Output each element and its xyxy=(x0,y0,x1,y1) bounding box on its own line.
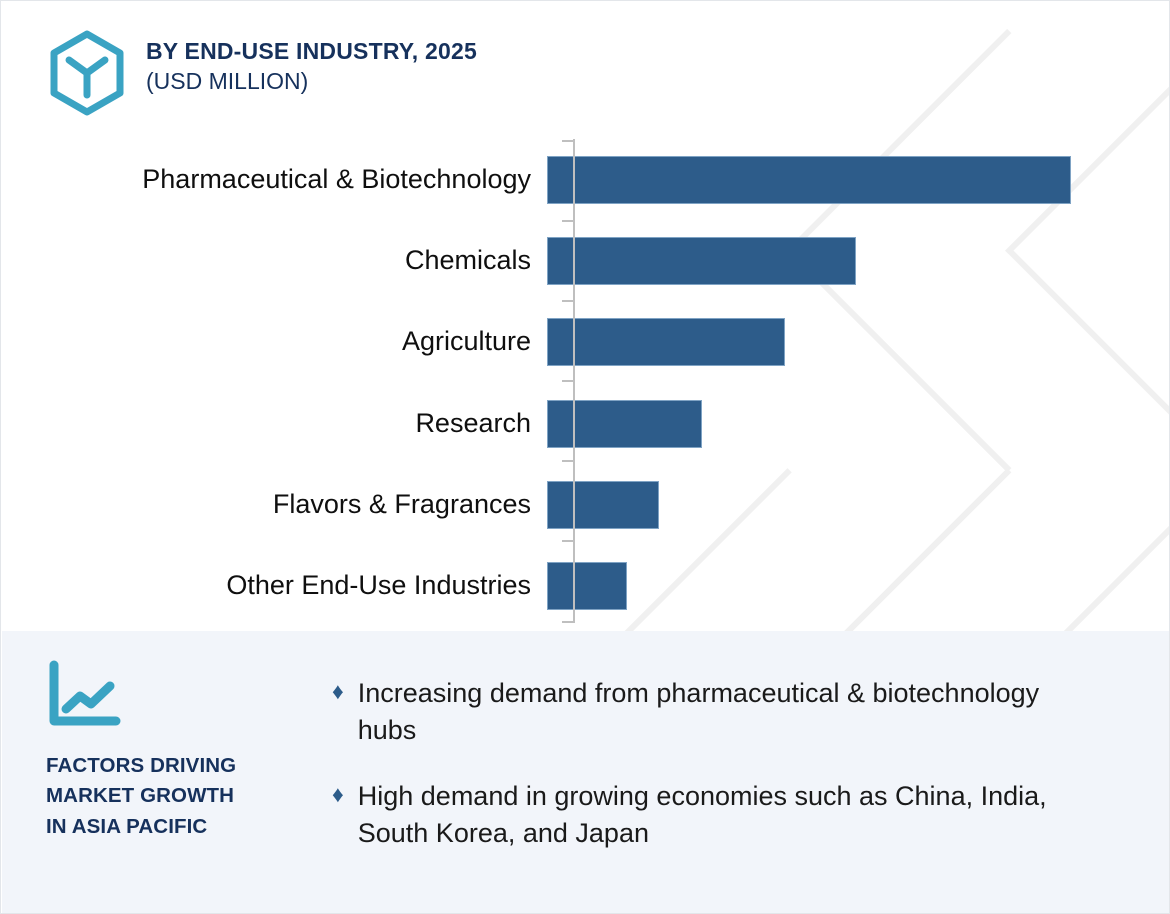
axis-tick xyxy=(562,460,574,462)
axis-tick xyxy=(562,540,574,542)
line-chart-icon xyxy=(46,659,122,731)
chart-row: Research xyxy=(1,383,1170,464)
axis-tick xyxy=(562,140,574,142)
bar-chart: Pharmaceutical & Biotechnology Chemicals… xyxy=(1,139,1170,627)
list-item-text: Increasing demand from pharmaceutical & … xyxy=(358,675,1078,750)
list-item: ♦ Increasing demand from pharmaceutical … xyxy=(332,675,1130,750)
category-label: Flavors & Fragrances xyxy=(1,490,547,520)
diamond-bullet-icon: ♦ xyxy=(332,675,344,707)
chart-row: Pharmaceutical & Biotechnology xyxy=(1,139,1170,220)
bar xyxy=(547,318,785,366)
chart-rows: Pharmaceutical & Biotechnology Chemicals… xyxy=(1,139,1170,627)
chart-row: Other End-Use Industries xyxy=(1,546,1170,627)
list-item: ♦ High demand in growing economies such … xyxy=(332,778,1130,853)
page-subtitle: (USD MILLION) xyxy=(146,67,477,96)
axis-tick xyxy=(562,300,574,302)
factors-panel: FACTORS DRIVING MARKET GROWTH IN ASIA PA… xyxy=(2,631,1170,914)
bar xyxy=(547,481,659,529)
axis-tick xyxy=(562,380,574,382)
page-title: BY END-USE INDUSTRY, 2025 xyxy=(146,37,477,65)
infographic-card: BY END-USE INDUSTRY, 2025 (USD MILLION) … xyxy=(0,0,1170,914)
bar xyxy=(547,400,702,448)
category-label: Other End-Use Industries xyxy=(1,571,547,601)
category-label: Pharmaceutical & Biotechnology xyxy=(1,165,547,195)
bar-track xyxy=(547,546,1170,627)
category-label: Agriculture xyxy=(1,327,547,357)
axis-tick xyxy=(562,220,574,222)
bar-track xyxy=(547,139,1170,220)
bar-track xyxy=(547,302,1170,383)
chart-row: Agriculture xyxy=(1,302,1170,383)
factors-bullet-list: ♦ Increasing demand from pharmaceutical … xyxy=(332,631,1170,914)
chart-row: Chemicals xyxy=(1,220,1170,301)
hexagon-cube-icon xyxy=(47,29,127,117)
list-item-text: High demand in growing economies such as… xyxy=(358,778,1078,853)
bar xyxy=(547,562,627,610)
chart-row: Flavors & Fragrances xyxy=(1,464,1170,545)
bar-track xyxy=(547,464,1170,545)
diamond-bullet-icon: ♦ xyxy=(332,778,344,810)
caption-line: IN ASIA PACIFIC xyxy=(46,812,332,842)
bar-track xyxy=(547,383,1170,464)
category-label: Chemicals xyxy=(1,246,547,276)
caption-line: FACTORS DRIVING xyxy=(46,751,332,781)
header: BY END-USE INDUSTRY, 2025 (USD MILLION) xyxy=(47,27,477,117)
factors-panel-left: FACTORS DRIVING MARKET GROWTH IN ASIA PA… xyxy=(2,631,332,914)
header-text-block: BY END-USE INDUSTRY, 2025 (USD MILLION) xyxy=(146,27,477,96)
category-label: Research xyxy=(1,409,547,439)
factors-panel-caption: FACTORS DRIVING MARKET GROWTH IN ASIA PA… xyxy=(46,751,332,842)
bar xyxy=(547,156,1071,204)
caption-line: MARKET GROWTH xyxy=(46,781,332,811)
bar xyxy=(547,237,856,285)
axis-tick xyxy=(562,621,574,623)
bar-track xyxy=(547,220,1170,301)
